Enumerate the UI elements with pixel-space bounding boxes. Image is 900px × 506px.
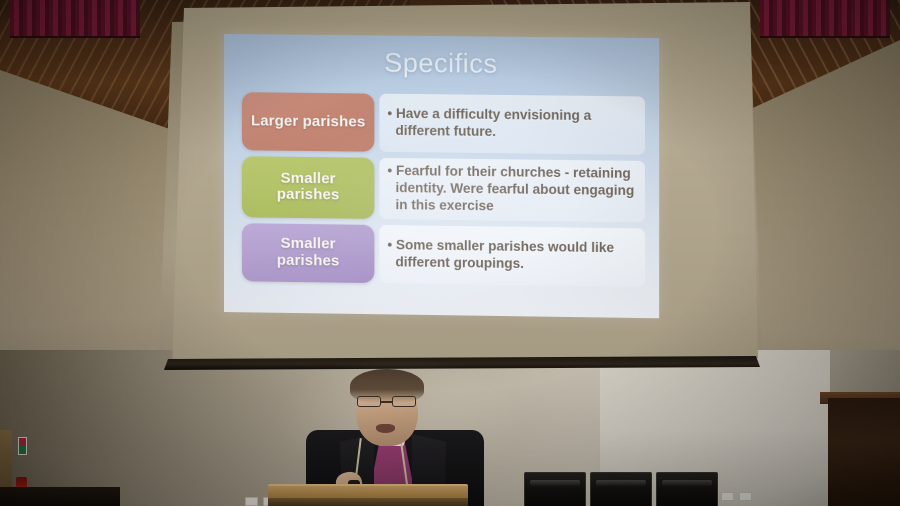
wall-socket-3 <box>739 492 752 501</box>
counter-left <box>0 487 120 506</box>
row-bullet-text-2: • Some smaller parishes would like diffe… <box>387 237 634 274</box>
row-bullet-text-0: • Have a difficulty envisioning a differ… <box>387 106 634 143</box>
chair <box>524 472 586 506</box>
curtain-right <box>760 0 890 38</box>
row-label-larger-parishes: Larger parishes <box>242 92 374 152</box>
curtain-left <box>10 0 140 38</box>
chair <box>590 472 652 506</box>
slide-title: Specifics <box>224 46 659 82</box>
row-label-smaller-parishes-purple: Smaller parishes <box>242 223 374 283</box>
wall-socket-4 <box>245 497 258 506</box>
row-body-1: • Fearful for their churches - retaining… <box>379 158 645 222</box>
row-bullet-text-1: • Fearful for their churches - retaining… <box>387 163 634 217</box>
row-label-smaller-parishes-green: Smaller parishes <box>242 156 374 218</box>
chair-row <box>524 472 724 506</box>
slide-rows: Larger parishes • Have a difficulty envi… <box>242 92 645 292</box>
wooden-cabinet-right <box>828 398 900 506</box>
row-body-0: • Have a difficulty envisioning a differ… <box>379 94 645 155</box>
row-body-2: • Some smaller parishes would like diffe… <box>379 225 645 287</box>
speaker-mouth <box>376 424 395 433</box>
slide-row: Smaller parishes • Some smaller parishes… <box>242 223 645 287</box>
podium-shadow <box>268 498 468 506</box>
slide-row: Larger parishes • Have a difficulty envi… <box>242 92 645 155</box>
glasses-icon <box>355 396 419 408</box>
projected-slide: Specifics Larger parishes • Have a diffi… <box>224 34 659 318</box>
chair <box>656 472 718 506</box>
exit-sign-icon <box>18 437 27 455</box>
presentation-photo-scene: Specifics Larger parishes • Have a diffi… <box>0 0 900 506</box>
slide-row: Smaller parishes • Fearful for their chu… <box>242 156 645 222</box>
